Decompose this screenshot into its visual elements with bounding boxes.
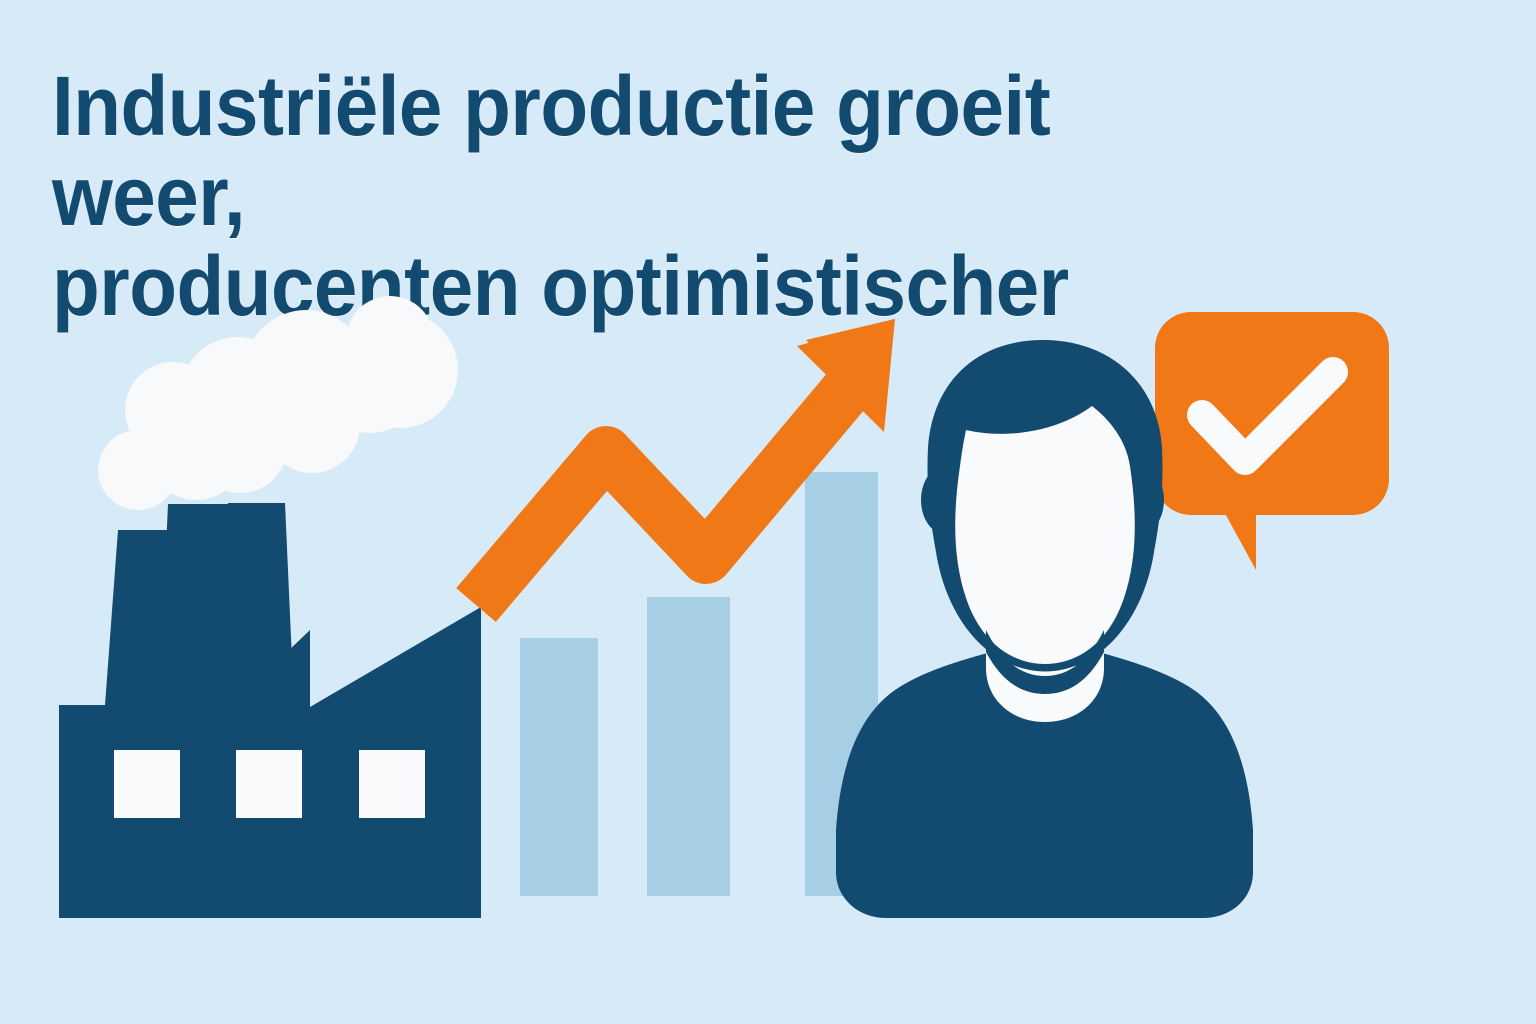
chart-bar <box>520 638 598 896</box>
factory-icon <box>59 503 481 918</box>
chart-bar <box>647 597 730 896</box>
illustration <box>0 0 1536 1024</box>
speech-bubble-check-icon <box>1155 312 1389 570</box>
producer-face <box>955 406 1135 664</box>
trend-arrow-line <box>476 372 862 605</box>
factory-window <box>359 750 425 818</box>
factory-window <box>114 750 180 818</box>
smoke-puffs-icon <box>98 296 458 510</box>
factory-chimney-right <box>220 503 294 705</box>
factory-window <box>236 750 302 818</box>
poster-canvas: Industriële productie groeit weer, produ… <box>0 0 1536 1024</box>
factory-chimney-left <box>105 530 178 705</box>
